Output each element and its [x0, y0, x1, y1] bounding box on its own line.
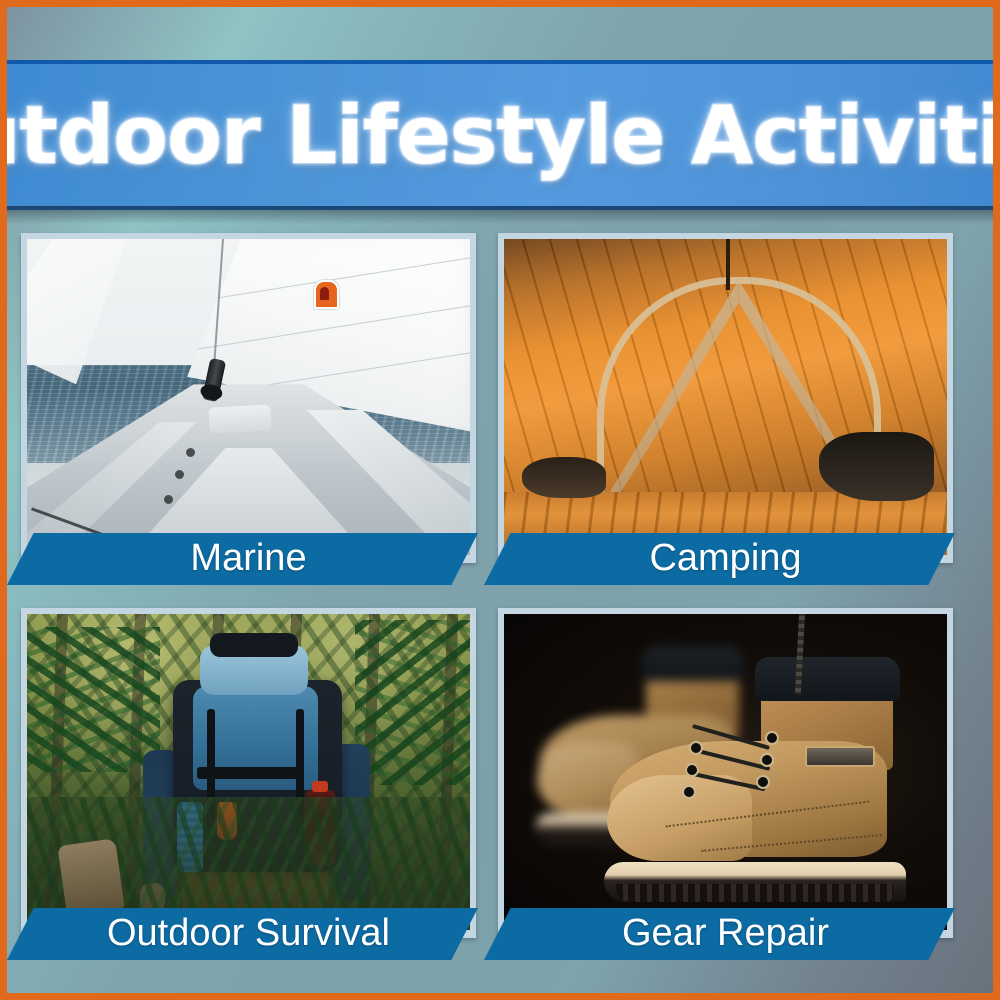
boot-sole	[604, 862, 905, 903]
leather-boots-photo	[504, 614, 947, 930]
card-label-ribbon-outdoor-survival: Outdoor Survival	[7, 908, 490, 960]
boot-brand-tag	[805, 746, 875, 767]
activity-card-outdoor-survival[interactable]: Outdoor Survival	[21, 608, 476, 938]
card-label-ribbon-camping: Camping	[484, 533, 967, 585]
page-title: Outdoor Lifestyle Activities	[0, 89, 1000, 182]
gear-bag-right	[819, 432, 934, 502]
photo-frame: Gear Repair	[498, 608, 953, 938]
left-shrub	[27, 627, 160, 772]
hiker-backpack-photo	[27, 614, 470, 930]
card-label: Gear Repair	[622, 914, 829, 952]
backpack-handle	[210, 633, 298, 656]
right-shrub	[355, 620, 470, 784]
front-boot	[610, 665, 911, 905]
activity-card-marine[interactable]: Marine	[21, 233, 476, 563]
gear-bag-left	[522, 457, 606, 498]
sailboat-bow-photo	[27, 239, 470, 555]
card-label: Marine	[190, 539, 306, 577]
tree-stump	[58, 838, 125, 915]
tent-pole	[726, 239, 730, 290]
activity-card-gear-repair[interactable]: Gear Repair	[498, 608, 953, 938]
card-label-ribbon-gear-repair: Gear Repair	[484, 908, 967, 960]
boot-laces	[689, 727, 797, 828]
photo-frame: Marine	[21, 233, 476, 563]
card-label-ribbon-marine: Marine	[7, 533, 490, 585]
bow-hatch	[208, 405, 271, 434]
title-banner: Outdoor Lifestyle Activities	[7, 60, 993, 210]
poster-root: Outdoor Lifestyle Activities	[0, 0, 1000, 1000]
photo-frame: Camping	[498, 233, 953, 563]
photo-frame: Outdoor Survival	[21, 608, 476, 938]
activity-card-camping[interactable]: Camping	[498, 233, 953, 563]
card-label: Camping	[649, 539, 801, 577]
card-label: Outdoor Survival	[107, 914, 390, 952]
activity-grid: Marine	[14, 225, 986, 993]
sail-insignia-icon	[314, 280, 339, 309]
boot-collar	[755, 657, 900, 700]
tent-interior-photo	[504, 239, 947, 555]
